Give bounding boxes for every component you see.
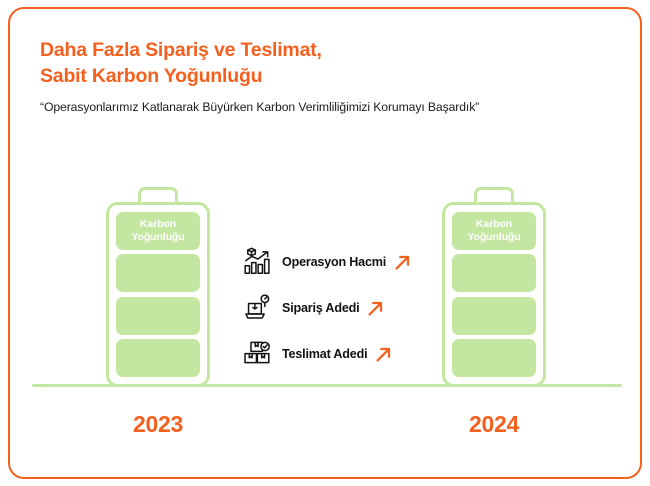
metrics-list: Operasyon Hacmi — [242, 243, 442, 373]
karbon-label-line-1: Karbon — [476, 218, 512, 230]
year-label-2023: 2023 — [106, 411, 210, 438]
arrow-up-right-icon — [393, 253, 412, 272]
battery-segment — [116, 297, 200, 335]
battery-segment-label: Karbon Yoğunluğu — [467, 218, 520, 244]
arrow-up-right-icon — [366, 299, 385, 318]
karbon-label-line-2: Yoğunluğu — [131, 231, 184, 243]
battery-segment — [116, 339, 200, 377]
battery-body: Karbon Yoğunluğu — [106, 202, 210, 387]
battery-segment — [452, 297, 536, 335]
metric-row-operasyon-hacmi: Operasyon Hacmi — [242, 243, 442, 281]
metric-row-siparis-adedi: Sipariş Adedi — [242, 289, 442, 327]
battery-2023: Karbon Yoğunluğu — [106, 187, 210, 387]
battery-2024: Karbon Yoğunluğu — [442, 187, 546, 387]
box-bar-chart-growth-icon — [242, 247, 272, 277]
infographic-canvas: Daha Fazla Sipariş ve Teslimat, Sabit Ka… — [0, 0, 650, 486]
chart-stage: Karbon Yoğunluğu 2023 Karbon — [10, 9, 644, 481]
battery-segment — [116, 254, 200, 292]
metric-row-teslimat-adedi: Teslimat Adedi — [242, 335, 442, 373]
box-on-scale-icon — [242, 293, 272, 323]
battery-body: Karbon Yoğunluğu — [442, 202, 546, 387]
battery-segment — [452, 339, 536, 377]
karbon-label-line-1: Karbon — [140, 218, 176, 230]
metric-label: Operasyon Hacmi — [282, 255, 386, 269]
battery-segment-label: Karbon Yoğunluğu — [131, 218, 184, 244]
metric-label: Sipariş Adedi — [282, 301, 359, 315]
battery-segment-top: Karbon Yoğunluğu — [116, 212, 200, 250]
card-frame: Daha Fazla Sipariş ve Teslimat, Sabit Ka… — [8, 7, 642, 479]
arrow-up-right-icon — [374, 345, 393, 364]
battery-segment — [452, 254, 536, 292]
karbon-label-line-2: Yoğunluğu — [467, 231, 520, 243]
battery-segment-top: Karbon Yoğunluğu — [452, 212, 536, 250]
year-label-2024: 2024 — [442, 411, 546, 438]
stacked-boxes-check-icon — [242, 339, 272, 369]
metric-label: Teslimat Adedi — [282, 347, 367, 361]
